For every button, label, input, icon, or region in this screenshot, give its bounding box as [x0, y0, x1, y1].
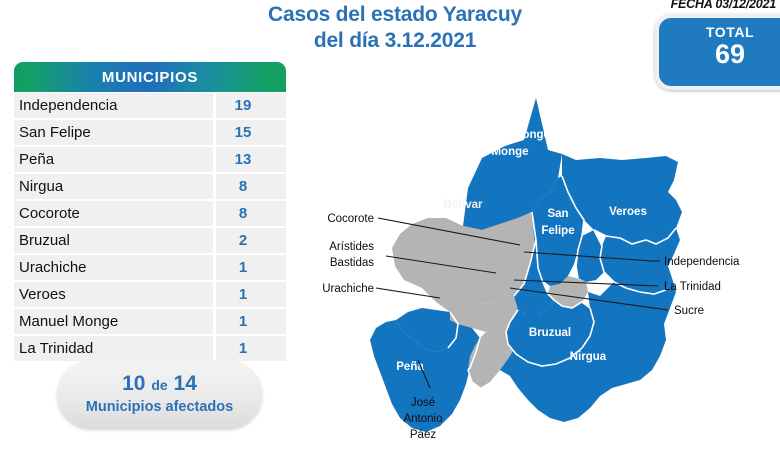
- table-body: Independencia 19 San Felipe 15 Peña 13 N…: [14, 93, 286, 361]
- row-name: Independencia: [14, 93, 213, 118]
- total-badge-value: 69: [659, 39, 780, 69]
- callout-label-independencia: Independencia: [664, 256, 740, 268]
- callout-label-jap-l3: Páez: [410, 429, 436, 441]
- affected-caption: Municipios afectados: [57, 397, 262, 417]
- affected-municipalities-badge: 10 de 14 Municipios afectados: [57, 360, 262, 428]
- table-row: Manuel Monge 1: [14, 309, 286, 334]
- table-row: Peña 13: [14, 147, 286, 172]
- table-row: Nirgua 8: [14, 174, 286, 199]
- callout-label-jap-l2: Antonio: [403, 413, 442, 425]
- row-value: 2: [216, 228, 286, 253]
- row-name: Nirgua: [14, 174, 213, 199]
- row-value: 19: [216, 93, 286, 118]
- page-title: Casos del estado Yaracuy del día 3.12.20…: [250, 2, 540, 54]
- callout-label-sucre: Sucre: [674, 305, 704, 317]
- page-title-line1: Casos del estado Yaracuy: [268, 3, 522, 26]
- map-label-bolivar: Bolívar: [444, 199, 484, 211]
- callout-label-la-trinidad: La Trinidad: [664, 281, 721, 293]
- affected-connector: de: [151, 377, 167, 393]
- callout-label-urachiche: Urachiche: [322, 283, 374, 295]
- table-row: La Trinidad 1: [14, 336, 286, 361]
- row-value: 8: [216, 201, 286, 226]
- map-label-pena: Peña: [396, 361, 424, 373]
- table-row: Independencia 19: [14, 93, 286, 118]
- row-name: San Felipe: [14, 120, 213, 145]
- affected-count-line: 10 de 14: [57, 372, 262, 397]
- row-value: 1: [216, 282, 286, 307]
- affected-count: 10: [122, 372, 145, 395]
- row-name: Manuel Monge: [14, 309, 213, 334]
- map-label-nirgua: Nirgua: [570, 351, 607, 363]
- row-name: Cocorote: [14, 201, 213, 226]
- callout-label-cocorote: Cocorote: [327, 213, 374, 225]
- yaracuy-map: Manuel Monge Bolívar San Felipe Veroes B…: [300, 88, 780, 470]
- row-value: 1: [216, 309, 286, 334]
- row-name: La Trinidad: [14, 336, 213, 361]
- callout-label-jap-l1: José: [411, 397, 435, 409]
- fecha-stamp: FECHA 03/12/2021: [671, 0, 776, 11]
- row-value: 13: [216, 147, 286, 172]
- row-value: 1: [216, 255, 286, 280]
- map-label-bruzual: Bruzual: [529, 327, 571, 339]
- map-label-manuel-monge-l2: Monge: [491, 146, 528, 158]
- callout-label-aristides-l2: Bastidas: [330, 257, 374, 269]
- table-row: Veroes 1: [14, 282, 286, 307]
- row-value: 15: [216, 120, 286, 145]
- table-row: Cocorote 8: [14, 201, 286, 226]
- row-name: Peña: [14, 147, 213, 172]
- map-label-manuel-monge: Manuel Monge: [470, 129, 550, 141]
- municipios-table: MUNICIPIOS Independencia 19 San Felipe 1…: [14, 62, 286, 363]
- row-name: Bruzual: [14, 228, 213, 253]
- map-label-san-felipe-l2: Felipe: [541, 225, 574, 237]
- row-name: Veroes: [14, 282, 213, 307]
- total-badge-label: TOTAL: [659, 24, 780, 40]
- table-header-municipios: MUNICIPIOS: [14, 62, 286, 92]
- affected-total: 14: [174, 372, 197, 395]
- total-badge: TOTAL 69: [655, 14, 780, 90]
- page-title-line2: del día 3.12.2021: [250, 28, 540, 54]
- row-value: 8: [216, 174, 286, 199]
- row-value: 1: [216, 336, 286, 361]
- map-label-san-felipe-l1: San: [547, 208, 568, 220]
- table-row: Urachiche 1: [14, 255, 286, 280]
- callout-label-aristides-l1: Arístides: [329, 241, 374, 253]
- map-label-veroes: Veroes: [609, 206, 647, 218]
- table-row: San Felipe 15: [14, 120, 286, 145]
- table-row: Bruzual 2: [14, 228, 286, 253]
- row-name: Urachiche: [14, 255, 213, 280]
